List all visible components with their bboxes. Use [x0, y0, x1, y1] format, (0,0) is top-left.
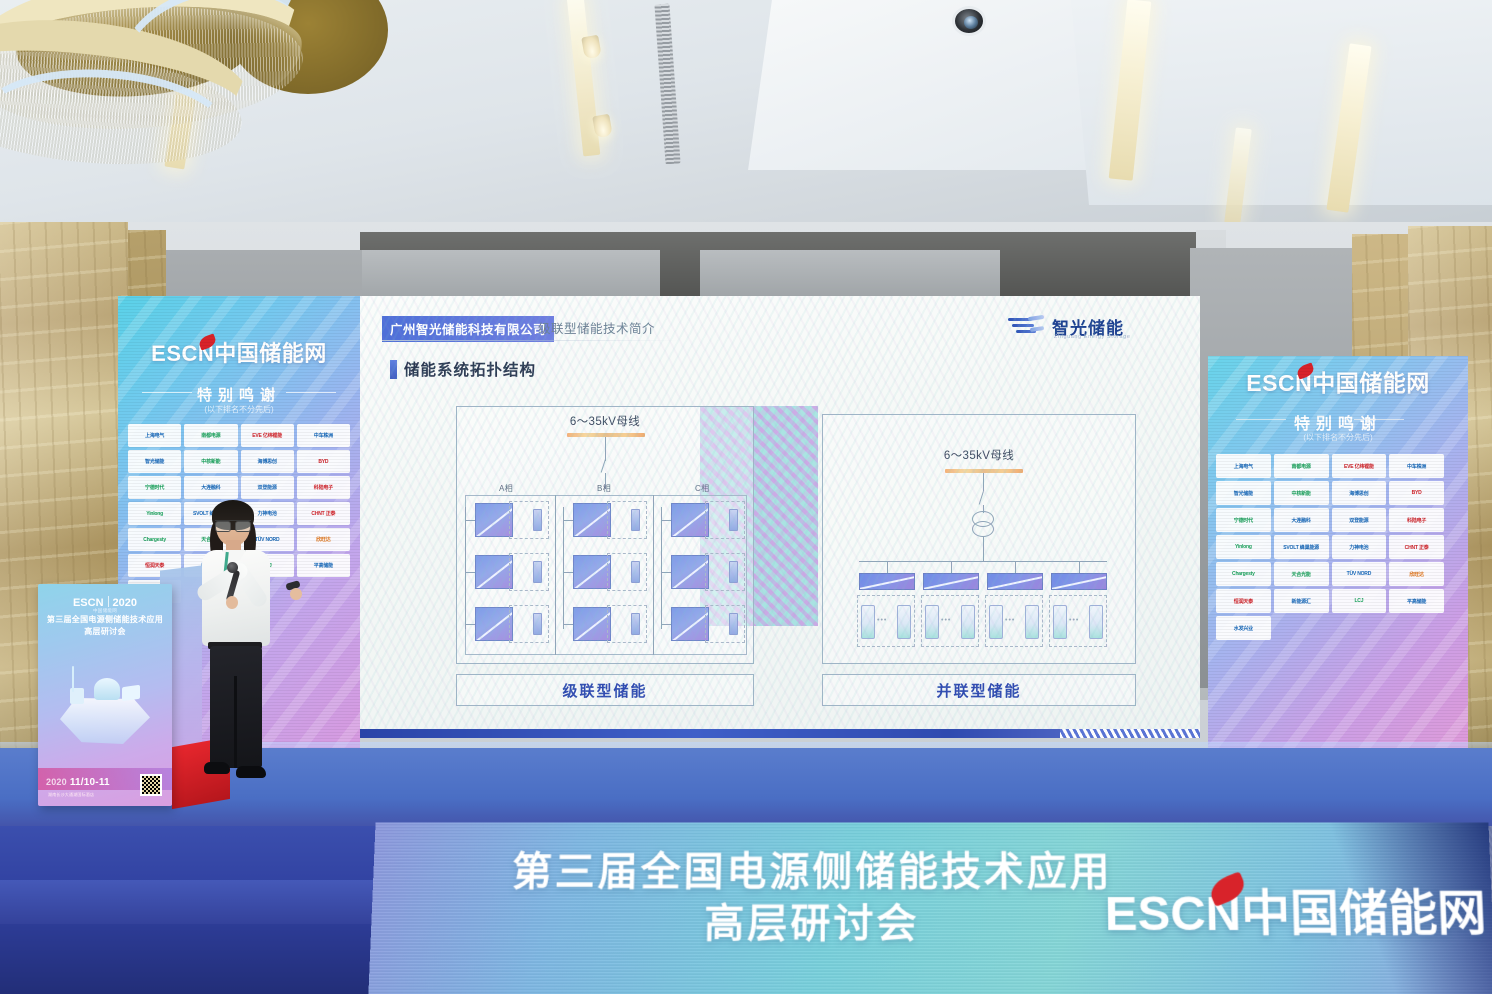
escn-logo-left: ESCN 中国储能网: [118, 336, 360, 368]
sponsor-logo: 天合光能: [1274, 562, 1329, 586]
converter-block: [475, 607, 513, 641]
sponsor-logo: 上海电气: [1216, 454, 1271, 478]
sponsor-logo: 海博思创: [1332, 481, 1387, 505]
caption-box-right: 并联型储能: [822, 674, 1136, 706]
converter-block: [671, 607, 709, 641]
conference-stage-photo: ESCN 中国储能网 特别鸣谢 (以下排名不分先后) 上海电气南都电源EVE 亿…: [0, 0, 1492, 994]
converter-block: [475, 555, 513, 589]
unit-wire: [563, 520, 573, 521]
breaker-icon: [979, 491, 991, 507]
stage-front-led-banner: 第三届全国电源侧储能技术应用 高层研讨会 ESCN 中国储能网: [368, 823, 1492, 994]
bus-bar: [567, 433, 645, 437]
event-standee: ESCN2020 中国储能网 第三届全国电源侧储能技术应用 高层研讨会 2020…: [38, 584, 172, 806]
thanks-title: 特别鸣谢: [118, 384, 360, 405]
sponsor-logo: 中核新能: [1274, 481, 1329, 505]
converter-block: [573, 607, 611, 641]
sponsor-logo: EVE 亿纬锂能: [1332, 454, 1387, 478]
air-vent-icon: [654, 4, 680, 165]
standee-date: 2020 11/10-11: [46, 777, 110, 788]
sponsor-logo: 力神电池: [1332, 535, 1387, 559]
sponsor-logo: 水发兴业: [1216, 616, 1271, 640]
pcs-drop-wire: [1015, 561, 1016, 573]
battery-cell: [533, 509, 542, 531]
phase-string-wire: [465, 507, 466, 629]
pcs-drop-wire: [1079, 561, 1080, 573]
battery-rack: [861, 605, 875, 639]
section-accent-bar: [390, 360, 397, 379]
pcs-unit: [859, 573, 915, 590]
standee-title-line1: 第三届全国电源侧储能技术应用: [38, 614, 172, 626]
battery-rack: [989, 605, 1003, 639]
sponsor-logo: 智光储能: [1216, 481, 1271, 505]
caption-parallel: 并联型储能: [936, 680, 1021, 701]
rack-ellipsis: •••: [1005, 617, 1015, 624]
shoe: [204, 762, 230, 774]
sponsor-logo: 智光储能: [128, 450, 181, 473]
standee-date-range: 11/10-11: [70, 777, 110, 788]
dome-security-camera-icon: [952, 6, 986, 36]
feeder-bus: [859, 561, 1107, 562]
phase-string-wire: [563, 507, 564, 629]
unit-wire: [465, 520, 475, 521]
slide-subject: 级联型储能技术简介: [538, 318, 655, 337]
rack-ellipsis: •••: [1069, 617, 1079, 624]
sponsor-logo: 中核新能: [184, 450, 237, 473]
divider: [142, 392, 192, 393]
sponsor-logo: 中车株洲: [297, 424, 350, 447]
section-title: 储能系统拓扑结构: [404, 358, 536, 380]
leg-split: [234, 676, 237, 768]
battery-dashed-group: [607, 553, 647, 591]
sponsor-logo: CHNT 正泰: [1389, 535, 1444, 559]
escn-logo-right: ESCN 中国储能网: [1208, 364, 1468, 398]
sponsor-logo: 欣旺达: [1389, 562, 1444, 586]
sponsor-logo: 宁德时代: [128, 476, 181, 499]
converter-block: [671, 555, 709, 589]
unit-wire: [563, 572, 573, 573]
glasses-icon: [215, 520, 251, 529]
header-underline: [382, 340, 682, 341]
stage-step: [0, 880, 430, 924]
converter-block: [573, 503, 611, 537]
battery-dashed-group: [705, 501, 745, 539]
battery-dashed-group: [509, 605, 549, 643]
battery-dashed-group: [607, 605, 647, 643]
battery-cell: [729, 613, 738, 635]
escn-brand-cn: 中国储能网: [1312, 370, 1430, 396]
section-title-group: 储能系统拓扑结构: [390, 358, 536, 380]
battery-rack: [1025, 605, 1039, 639]
phase-divider: [555, 495, 556, 655]
sponsor-logo: 中车株洲: [1389, 454, 1444, 478]
slide-footer-strip: [360, 729, 1200, 738]
battery-dashed-group: [705, 553, 745, 591]
stage-step: [0, 924, 430, 994]
qr-code-icon: [140, 774, 162, 796]
pcs-drop-wire: [951, 561, 952, 573]
battery-cell: [729, 509, 738, 531]
watermark-brand-cn: 中国储能网: [1241, 887, 1488, 941]
bus-label-left: 6～35kV母线: [457, 413, 753, 429]
unit-wire: [465, 572, 475, 573]
battery-dashed-group: [705, 605, 745, 643]
sponsor-logo: Yinlong: [1216, 535, 1271, 559]
battery-cell: [533, 613, 542, 635]
building-icon: [122, 685, 140, 702]
battery-dashed-group: [509, 553, 549, 591]
bus-riser: [983, 537, 984, 561]
sponsor-logo: EVE 亿纬锂能: [241, 424, 294, 447]
caption-box-left: 级联型储能: [456, 674, 754, 706]
phase-label-b: B相: [597, 483, 611, 494]
zhiguang-mark-icon: [1008, 315, 1046, 339]
escn-brand-cn: 中国储能网: [214, 341, 327, 366]
bus-bar: [945, 469, 1023, 473]
speaker-person: [186, 500, 306, 792]
right-hand: [290, 588, 302, 600]
escn-watermark: ESCN 中国储能网: [1104, 874, 1487, 945]
ribbon-chandelier: [0, 0, 380, 178]
sponsor-logo: LCJ: [1332, 589, 1387, 613]
sponsor-logo: 宁德时代: [1216, 508, 1271, 532]
divider: [1236, 419, 1286, 420]
battery-rack: [1089, 605, 1103, 639]
battery-dashed-group: [607, 501, 647, 539]
rack-ellipsis: •••: [941, 617, 951, 624]
divider: [286, 392, 336, 393]
standee-venue: 湖南长沙大通湖国际酒店: [48, 792, 94, 798]
standee-illustration: [56, 662, 154, 748]
battery-cell: [729, 561, 738, 583]
wind-turbine-icon: [72, 666, 74, 692]
battery-rack: [1053, 605, 1067, 639]
converter-block: [475, 503, 513, 537]
sponsor-logo: Yinlong: [128, 502, 181, 525]
pcs-unit: [923, 573, 979, 590]
sponsor-logo: 新能源汇: [1274, 589, 1329, 613]
divider: [1354, 419, 1404, 420]
battery-cell: [631, 561, 640, 583]
bus-riser: [983, 473, 984, 491]
pcs-drop-wire: [887, 561, 888, 573]
island-shape: [60, 698, 150, 744]
unit-wire: [465, 624, 475, 625]
sponsor-logo: 上海电气: [128, 424, 181, 447]
converter-block: [573, 555, 611, 589]
unit-wire: [661, 624, 671, 625]
sponsor-logo: BYD: [1389, 481, 1444, 505]
sponsor-logo: Chargesty: [128, 528, 181, 551]
sponsor-logo: 科陆电子: [297, 476, 350, 499]
footer-hatch: [1060, 729, 1200, 738]
phase-divider: [653, 495, 654, 655]
sponsor-logo: Chargesty: [1216, 562, 1271, 586]
battery-cell: [533, 561, 542, 583]
zhiguang-brand-latin: Zhiguang Energy Storage: [1054, 334, 1130, 340]
converter-block: [671, 503, 709, 537]
bus-label-right: 6～35kV母线: [823, 447, 1135, 463]
sponsor-logo: 南都电源: [184, 424, 237, 447]
bus-riser: [605, 437, 606, 461]
sponsor-logo: 恒润天泰: [1216, 589, 1271, 613]
unit-wire: [563, 624, 573, 625]
phase-label-a: A相: [499, 483, 513, 494]
thanks-subtitle: (以下排名不分先后): [118, 404, 360, 415]
presentation-slide: 广州智光储能科技有限公司 级联型储能技术简介 智光储能 Zhiguang Ene…: [360, 296, 1200, 738]
caption-cascaded: 级联型储能: [562, 680, 647, 701]
thanks-subtitle: (以下排名不分先后): [1208, 432, 1468, 443]
battery-cell: [631, 509, 640, 531]
rack-ellipsis: •••: [877, 617, 887, 624]
sponsor-logo: 海博思创: [241, 450, 294, 473]
pcs-unit: [1051, 573, 1107, 590]
battery-rack: [897, 605, 911, 639]
sponsor-logo: SVOLT 蜂巢能源: [1274, 535, 1329, 559]
phase-string-wire: [661, 507, 662, 629]
sponsor-logo: 双登能源: [241, 476, 294, 499]
breaker-icon: [601, 459, 613, 475]
sponsor-logo: 平高储能: [1389, 589, 1444, 613]
phase-label-c: C相: [695, 483, 710, 494]
unit-wire: [661, 520, 671, 521]
battery-rack: [925, 605, 939, 639]
diagram-parallel: 6～35kV母线 ••••••••••••: [822, 414, 1136, 664]
sponsor-logo: BYD: [297, 450, 350, 473]
thanks-title: 特别鸣谢: [1208, 410, 1468, 434]
left-hand: [226, 596, 238, 609]
standee-title-line2: 高层研讨会: [38, 626, 172, 638]
battery-cell: [631, 613, 640, 635]
sponsor-logo: 双登能源: [1332, 508, 1387, 532]
standee-date-year: 2020: [46, 777, 67, 787]
pcs-unit: [987, 573, 1043, 590]
storage-tank-icon: [94, 678, 120, 700]
transformer-icon: [972, 521, 994, 537]
company-name-tag: 广州智光储能科技有限公司: [382, 316, 554, 342]
diagram-cascaded: 6～35kV母线 A相 B相 C相: [456, 406, 754, 664]
sponsor-logo-grid: 上海电气南都电源EVE 亿纬锂能中车株洲智光储能中核新能海博思创BYD宁德时代大…: [1216, 454, 1444, 640]
unit-wire: [661, 572, 671, 573]
shoe: [236, 766, 266, 778]
ceiling: [0, 0, 1492, 240]
sponsor-panel-right: ESCN 中国储能网 特别鸣谢 (以下排名不分先后) 上海电气南都电源EVE 亿…: [1208, 356, 1468, 756]
battery-dashed-group: [509, 501, 549, 539]
sponsor-logo: 大连融科: [184, 476, 237, 499]
battery-rack: [961, 605, 975, 639]
sponsor-logo: 科陆电子: [1389, 508, 1444, 532]
sponsor-logo: 南都电源: [1274, 454, 1329, 478]
sponsor-logo: 大连融科: [1274, 508, 1329, 532]
sponsor-logo: TÜV NORD: [1332, 562, 1387, 586]
microphone-head: [227, 562, 238, 573]
